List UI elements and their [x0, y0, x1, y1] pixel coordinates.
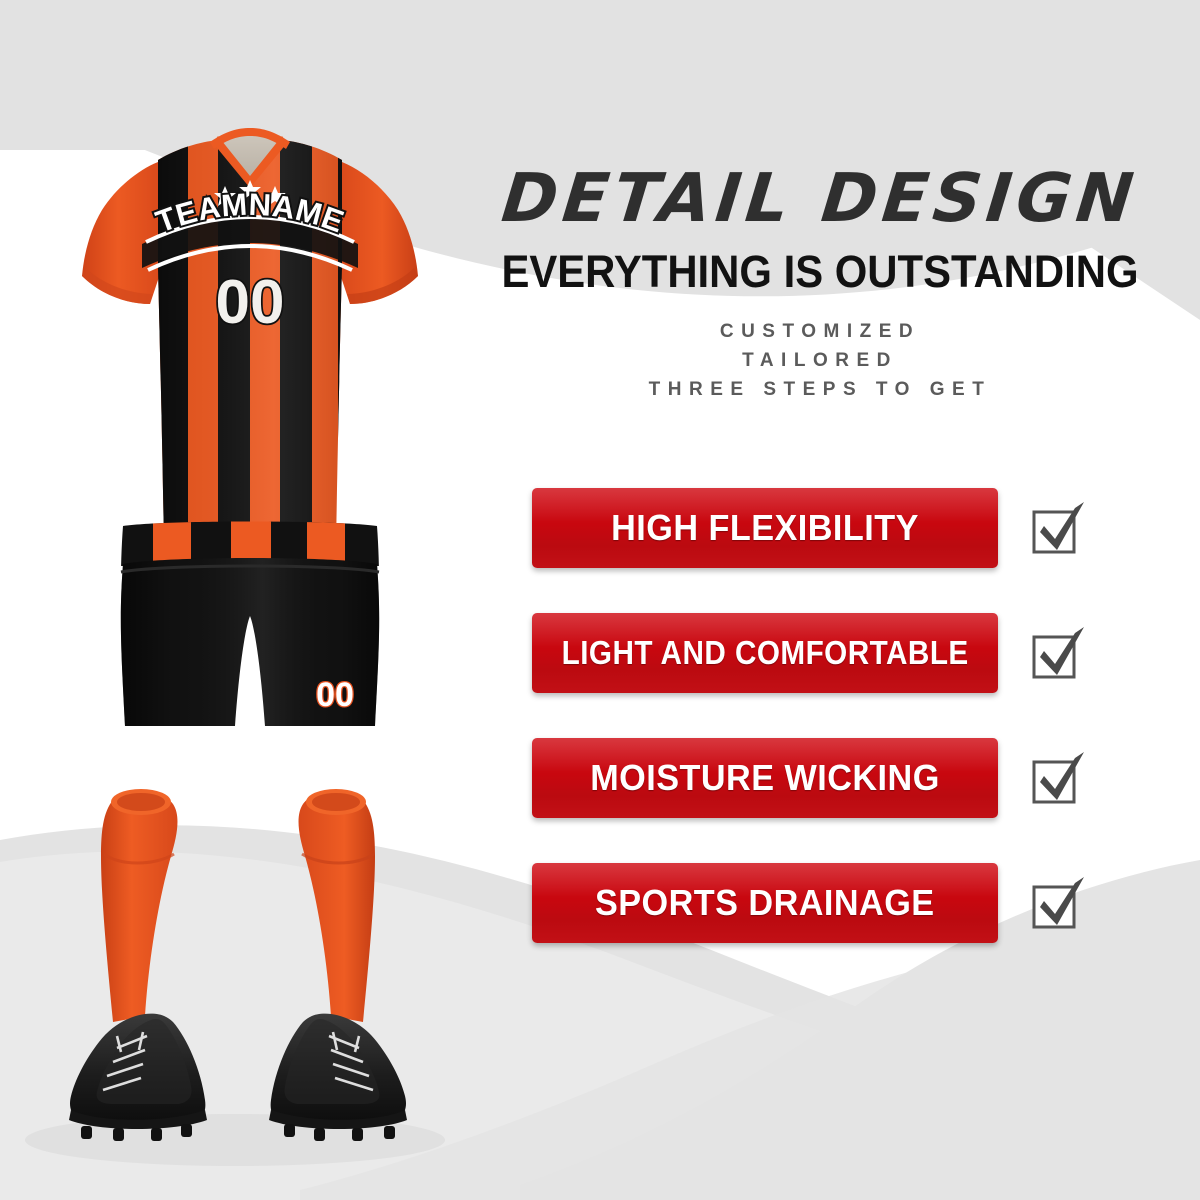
- feature-bar[interactable]: HIGH FLEXIBILITY: [532, 488, 998, 568]
- feature-label: HIGH FLEXIBILITY: [611, 507, 919, 549]
- feature-item-sports-drainage[interactable]: SPORTS DRAINAGE: [532, 860, 1152, 946]
- feature-label: MOISTURE WICKING: [590, 757, 940, 799]
- copy-column: DETAIL DESIGN EVERYTHING IS OUTSTANDING …: [470, 0, 1200, 1200]
- kicker-block: CUSTOMIZED TAILORED THREE STEPS TO GET: [470, 318, 1170, 405]
- jersey-image: TEAMNAME 00: [50, 118, 450, 558]
- jersey-number: 00: [216, 268, 285, 337]
- page-subtitle: EVERYTHING IS OUTSTANDING: [495, 246, 1146, 298]
- socks-and-cleats-image: [55, 770, 415, 1170]
- sock-right: [299, 789, 375, 1022]
- product-photo-column: TEAMNAME 00: [0, 0, 520, 1200]
- kicker-line-1: CUSTOMIZED: [470, 318, 1170, 347]
- sock-left: [101, 789, 177, 1022]
- feature-item-light-and-comfortable[interactable]: LIGHT AND COMFORTABLE: [532, 610, 1152, 696]
- feature-item-moisture-wicking[interactable]: MOISTURE WICKING: [532, 735, 1152, 821]
- marketing-banner: TEAMNAME 00: [0, 0, 1200, 1200]
- feature-label: LIGHT AND COMFORTABLE: [561, 634, 968, 672]
- checkbox-checked-icon[interactable]: [1030, 623, 1086, 683]
- feature-bar[interactable]: LIGHT AND COMFORTABLE: [532, 613, 998, 693]
- feature-bar[interactable]: SPORTS DRAINAGE: [532, 863, 998, 943]
- feature-label: SPORTS DRAINAGE: [595, 882, 935, 924]
- checkbox-checked-icon[interactable]: [1030, 873, 1086, 933]
- shorts-number: 00: [316, 676, 354, 714]
- heading-block: DETAIL DESIGN EVERYTHING IS OUTSTANDING …: [470, 165, 1170, 405]
- page-title: DETAIL DESIGN: [466, 165, 1173, 232]
- feature-bar[interactable]: MOISTURE WICKING: [532, 738, 998, 818]
- shorts-image: 00: [95, 520, 405, 750]
- feature-list: HIGH FLEXIBILITY LIGHT AND COMFORTABLE: [532, 485, 1152, 985]
- cleat-right: [269, 1014, 407, 1141]
- checkbox-checked-icon[interactable]: [1030, 498, 1086, 558]
- kicker-line-3: THREE STEPS TO GET: [470, 376, 1170, 405]
- checkbox-checked-icon[interactable]: [1030, 748, 1086, 808]
- kicker-line-2: TAILORED: [470, 347, 1170, 376]
- feature-item-high-flexibility[interactable]: HIGH FLEXIBILITY: [532, 485, 1152, 571]
- cleat-left: [69, 1014, 207, 1141]
